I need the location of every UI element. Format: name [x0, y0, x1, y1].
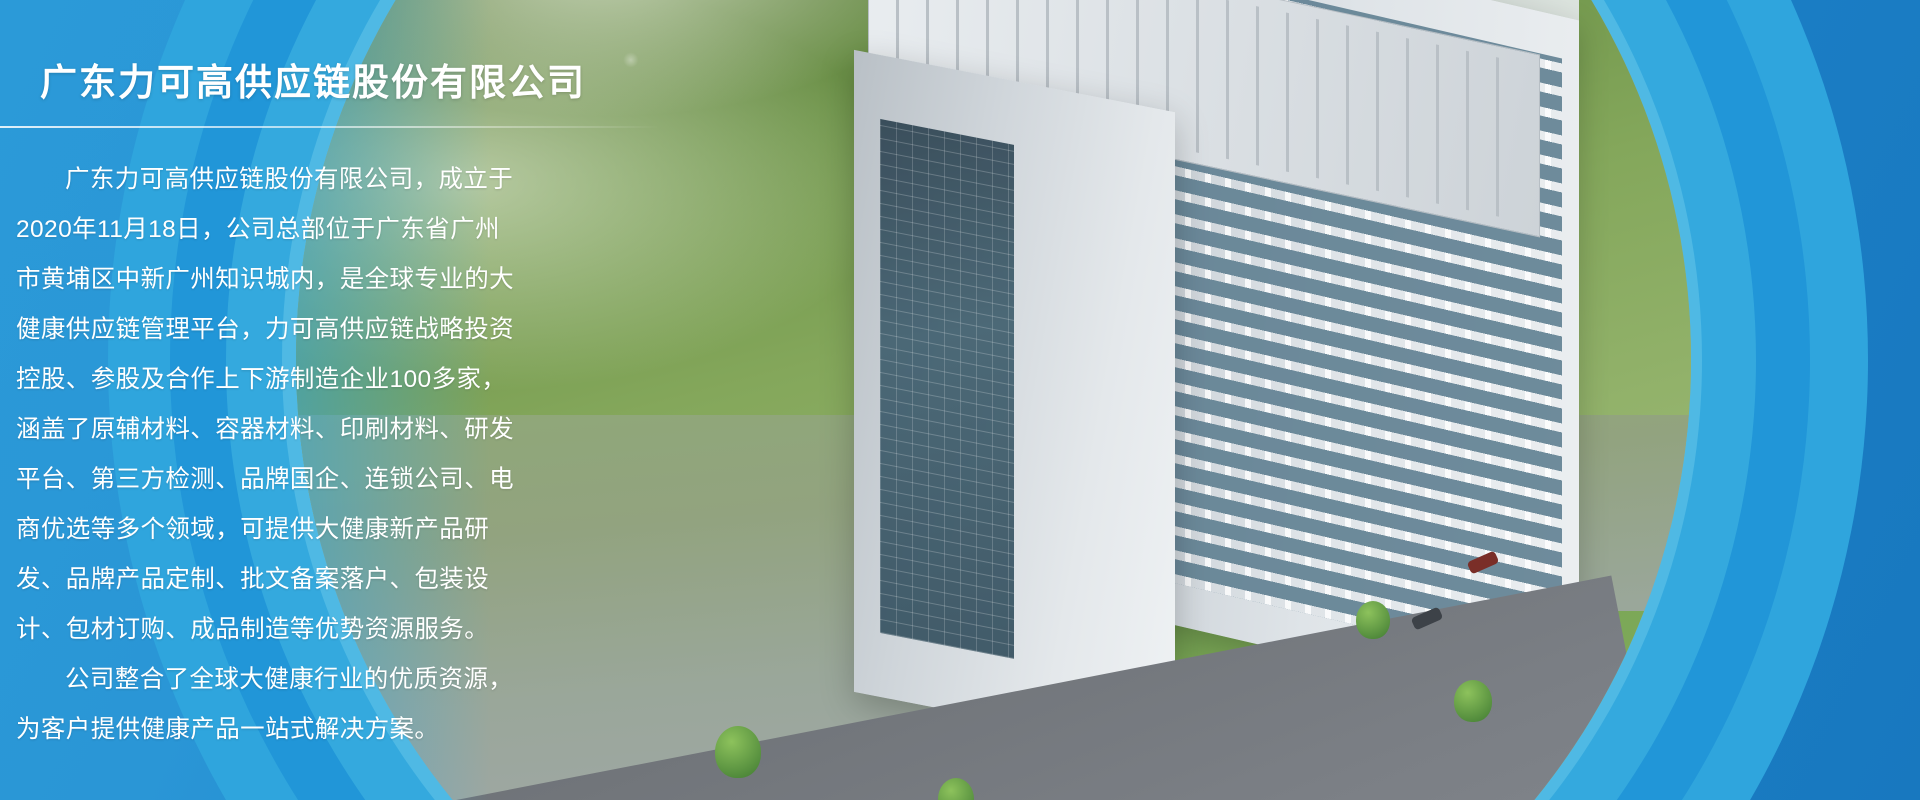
truss-beams	[896, 0, 1512, 220]
car-parked	[1411, 606, 1444, 630]
window-grid	[880, 118, 1015, 658]
company-description: 广东力可高供应链股份有限公司，成立于2020年11月18日，公司总部位于广东省广…	[16, 155, 524, 755]
far-building	[1300, 0, 1579, 133]
tree	[1454, 680, 1492, 722]
tree	[1356, 601, 1390, 639]
curtain-wall-glass	[880, 118, 1015, 658]
car-parked	[1466, 550, 1499, 574]
factory-windows	[1151, 0, 1562, 672]
tree	[715, 726, 761, 778]
description-paragraph-1: 广东力可高供应链股份有限公司，成立于2020年11月18日，公司总部位于广东省广…	[16, 155, 524, 655]
factory-building	[1133, 0, 1579, 718]
page-title: 广东力可高供应链股份有限公司	[40, 52, 586, 106]
tree	[938, 778, 974, 800]
text-column: 广东力可高供应链股份有限公司 广东力可高供应链股份有限公司，成立于2020年11…	[0, 0, 660, 800]
landscaped-lawn	[837, 611, 1681, 800]
title-divider	[0, 126, 660, 128]
annex-building	[1189, 693, 1384, 800]
rooftop-truss	[868, 0, 1540, 238]
office-building	[854, 49, 1175, 753]
company-profile-banner: 广东力可高供应链股份有限公司 广东力可高供应链股份有限公司，成立于2020年11…	[0, 0, 1920, 800]
description-paragraph-2: 公司整合了全球大健康行业的优质资源，为客户提供健康产品一站式解决方案。	[16, 655, 524, 755]
